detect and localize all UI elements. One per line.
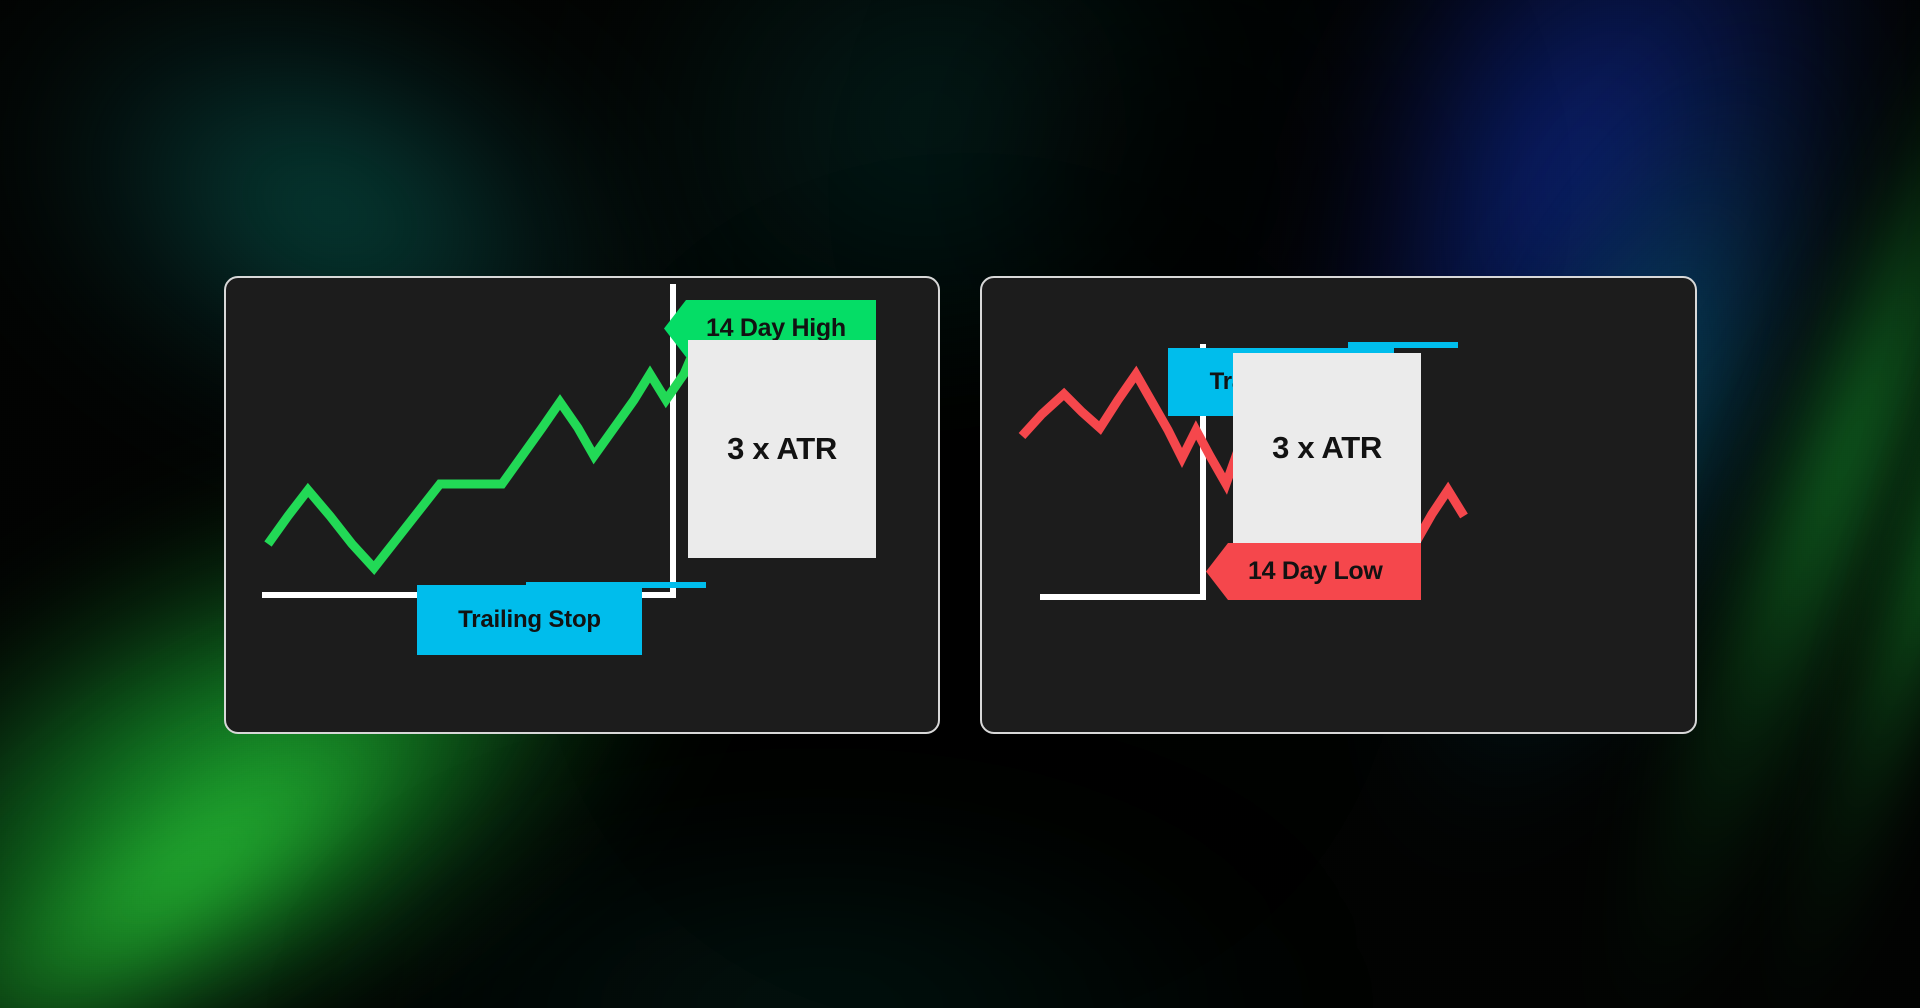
atr-box-downtrend-label: 3 x ATR bbox=[1272, 430, 1382, 466]
downtrend-chart-stage: Trailing Stop 3 x ATR 14 Day Low bbox=[982, 278, 1695, 732]
trailing-stop-chip-uptrend[interactable]: Trailing Stop bbox=[417, 585, 642, 655]
trailing-stop-chip-uptrend-label: Trailing Stop bbox=[458, 606, 601, 634]
panel-uptrend: 14 Day High 3 x ATR Trailing Stop bbox=[224, 276, 940, 734]
flag-14-day-low-label: 14 Day Low bbox=[1248, 557, 1383, 586]
atr-box-uptrend-label: 3 x ATR bbox=[727, 431, 837, 467]
uptrend-chart-stage: 14 Day High 3 x ATR Trailing Stop bbox=[226, 278, 938, 732]
flag-14-day-low[interactable]: 14 Day Low bbox=[1206, 543, 1421, 600]
panel-downtrend: Trailing Stop 3 x ATR 14 Day Low bbox=[980, 276, 1697, 734]
uptrend-price-line bbox=[268, 346, 726, 568]
flag-14-day-high-label: 14 Day High bbox=[706, 314, 846, 343]
atr-box-downtrend: 3 x ATR bbox=[1233, 353, 1421, 543]
downtrend-baseline bbox=[1040, 594, 1206, 600]
atr-box-uptrend: 3 x ATR bbox=[688, 340, 876, 558]
